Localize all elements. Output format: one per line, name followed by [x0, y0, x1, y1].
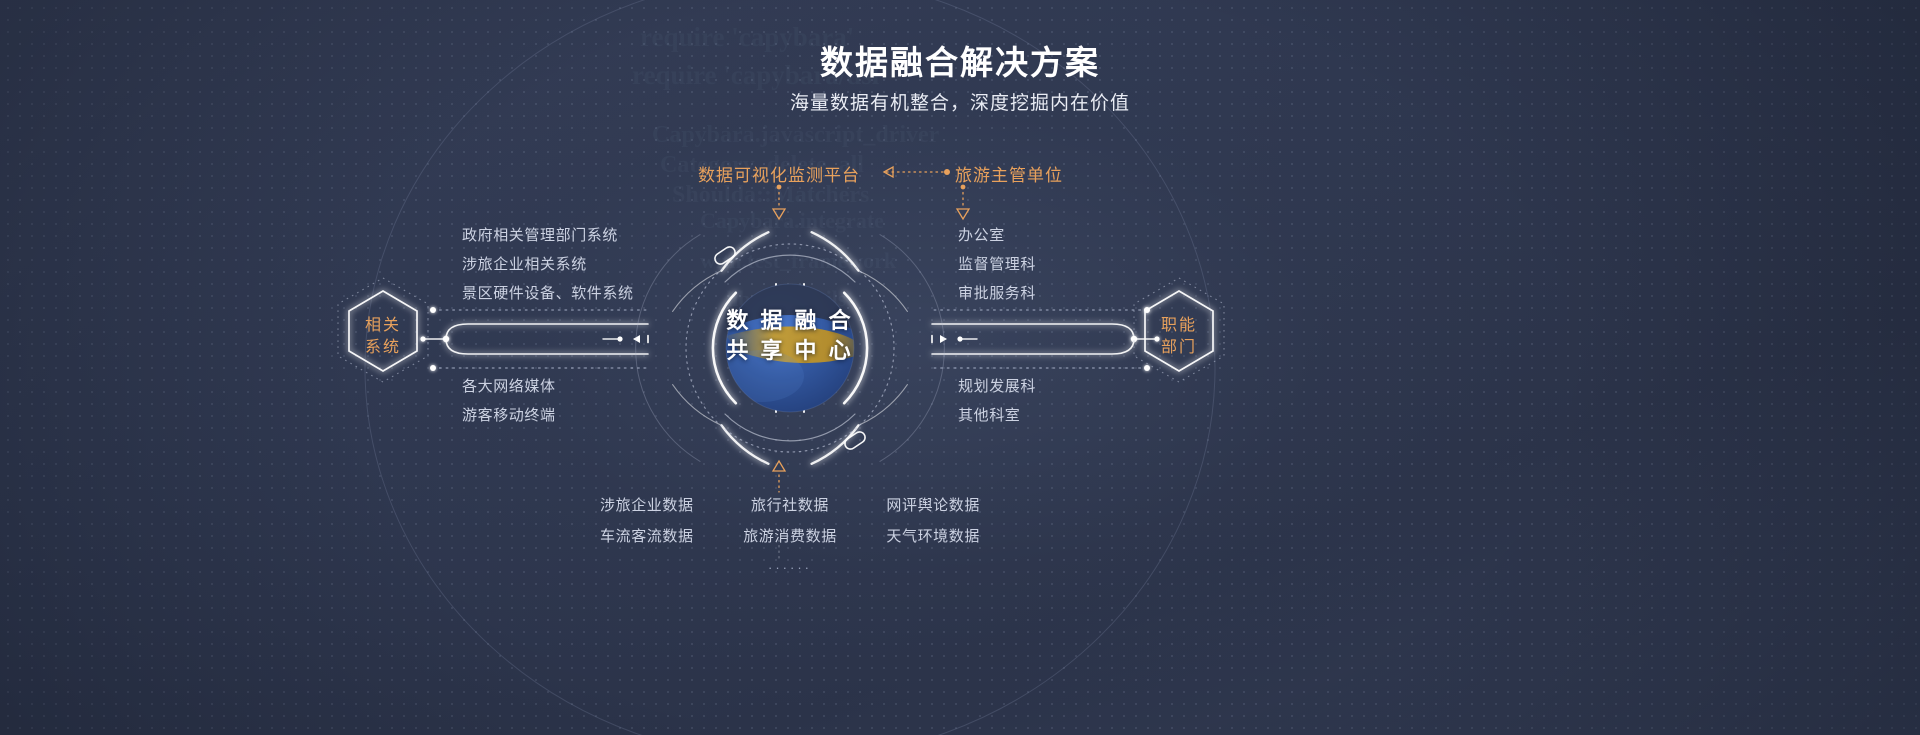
ellipsis-label: ······: [600, 552, 980, 575]
center-hub-line1: 数 据 融 合: [692, 306, 888, 336]
center-hub-label: 数 据 融 合 共 享 中 心: [692, 306, 888, 366]
right-lower-department-list: 规划发展科 其他科室: [958, 372, 1036, 430]
list-item: 涉旅企业相关系统: [462, 250, 634, 279]
ring-capsule-marker-top: [713, 245, 737, 266]
left-connector-rails: [420, 307, 648, 371]
list-item: 办公室: [958, 221, 1036, 250]
list-item: 景区硬件设备、软件系统: [462, 279, 634, 308]
list-item: 旅行社数据: [751, 490, 829, 521]
list-item: 车流客流数据: [600, 521, 694, 552]
list-item: 涉旅企业数据: [600, 490, 694, 521]
list-item: 各大网络媒体: [462, 372, 556, 401]
left-lower-source-list: 各大网络媒体 游客移动终端: [462, 372, 556, 430]
badge-label-line2: 部门: [1161, 337, 1197, 359]
list-item: 规划发展科: [958, 372, 1036, 401]
node-visualization-platform[interactable]: 数据可视化监测平台: [698, 161, 860, 186]
ring-capsule-marker-bottom: [843, 430, 867, 451]
infographic-canvas: require 'capybara' require 'capybara/dsl…: [0, 0, 1920, 735]
list-item: 旅游消费数据: [743, 521, 837, 552]
right-upper-department-list: 办公室 监督管理科 审批服务科: [958, 221, 1036, 308]
list-item: 审批服务科: [958, 279, 1036, 308]
list-item: 游客移动终端: [462, 401, 556, 430]
right-connector-rails: [932, 307, 1160, 371]
list-item: 网评舆论数据: [886, 490, 980, 521]
left-upper-source-list: 政府相关管理部门系统 涉旅企业相关系统 景区硬件设备、软件系统: [462, 221, 634, 308]
page-subtitle: 海量数据有机整合，深度挖掘内在价值: [0, 88, 1920, 115]
badge-related-systems[interactable]: 相关 系统: [337, 289, 429, 385]
badge-label-line1: 职能: [1161, 315, 1197, 337]
badge-label-line1: 相关: [365, 315, 401, 337]
list-item: 监督管理科: [958, 250, 1036, 279]
node-authority-unit[interactable]: 旅游主管单位: [955, 161, 1063, 186]
list-item: 其他科室: [958, 401, 1036, 430]
list-item: 政府相关管理部门系统: [462, 221, 634, 250]
table-row: 涉旅企业数据 旅行社数据 网评舆论数据: [600, 490, 980, 521]
list-item: 天气环境数据: [886, 521, 980, 552]
bottom-data-sources: 涉旅企业数据 旅行社数据 网评舆论数据 车流客流数据 旅游消费数据 天气环境数据…: [600, 490, 980, 575]
center-hub-line2: 共 享 中 心: [692, 336, 888, 366]
table-row: 车流客流数据 旅游消费数据 天气环境数据: [600, 521, 980, 552]
badge-functional-departments[interactable]: 职能 部门: [1133, 289, 1225, 385]
badge-label-line2: 系统: [365, 337, 401, 359]
page-title: 数据融合解决方案: [0, 36, 1920, 84]
